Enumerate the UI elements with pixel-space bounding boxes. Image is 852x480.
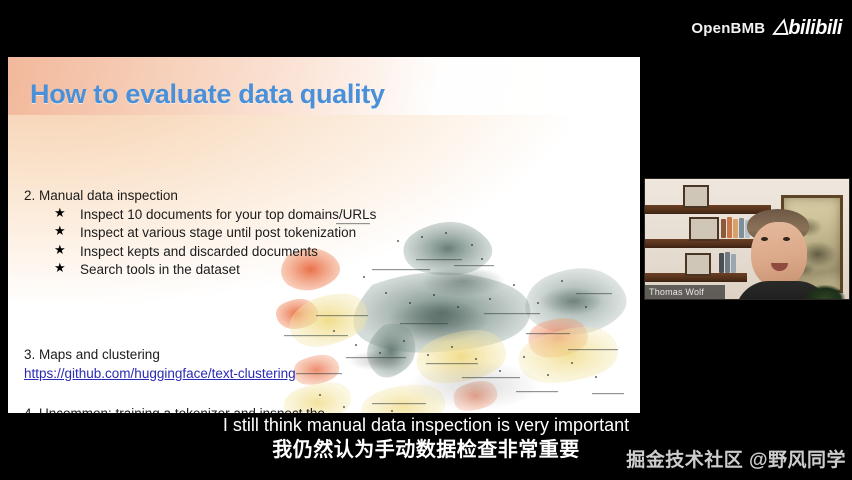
bullet-text: Search tools in the dataset [80, 262, 240, 277]
bullet-item: ★ Inspect 10 documents for your top doma… [54, 206, 389, 223]
bullet-item: ★ Inspect kepts and discarded documents [54, 243, 389, 260]
channel-branding: OpenBMB △bilibili [691, 18, 842, 38]
section-2-bullet-list: ★ Inspect 10 documents for your top doma… [24, 206, 389, 278]
slide-title: How to evaluate data quality [30, 79, 385, 110]
subtitle-english: I still think manual data inspection is … [223, 414, 629, 437]
picture-frame-icon [685, 253, 711, 276]
star-bullet-icon: ★ [54, 260, 66, 277]
bullet-item: ★ Search tools in the dataset [54, 261, 389, 278]
eye [783, 237, 790, 241]
section-3-heading: 3. Maps and clustering [24, 346, 404, 364]
video-player-frame: OpenBMB △bilibili [0, 0, 852, 480]
section-2-heading: 2. Manual data inspection [24, 187, 389, 204]
slide-section-3: 3. Maps and clustering https://github.co… [24, 346, 404, 383]
bilibili-logo-text: bilibili [788, 17, 842, 39]
speaker-webcam-tile[interactable]: Thomas Wolf [644, 178, 850, 300]
subtitle-overlay: I still think manual data inspection is … [0, 414, 852, 474]
watermark-text: 掘金技术社区 @野风同学 [626, 445, 846, 472]
plant [805, 265, 845, 299]
book-icon [719, 253, 724, 273]
star-bullet-icon: ★ [54, 205, 66, 222]
bullet-item: ★ Inspect at various stage until post to… [54, 224, 389, 241]
speaker-name-label: Thomas Wolf [645, 285, 725, 299]
book-icon [725, 252, 730, 273]
bilibili-logo: △bilibili [773, 18, 842, 38]
slide-section-2: 2. Manual data inspection ★ Inspect 10 d… [24, 187, 389, 279]
book-icon [721, 219, 726, 238]
picture-frame-icon [683, 185, 709, 208]
channel-name: OpenBMB [691, 20, 765, 37]
presentation-slide: How to evaluate data quality 2. Manual d… [8, 57, 640, 413]
subtitle-chinese: 我仍然认为手动数据检查非常重要 [272, 438, 580, 463]
star-bullet-icon: ★ [54, 242, 66, 259]
bullet-text: Inspect kepts and discarded documents [80, 244, 318, 259]
bullet-text: Inspect at various stage until post toke… [80, 225, 356, 240]
slide-section-4: 4. Uncommon: training a tokenizer and in… [24, 405, 399, 413]
face [751, 222, 807, 288]
text-clustering-link[interactable]: https://github.com/huggingface/text-clus… [24, 365, 296, 383]
eye [761, 237, 768, 241]
watermark: 掘金技术社区 @野风同学 [626, 445, 846, 472]
picture-frame-icon [689, 217, 719, 241]
star-bullet-icon: ★ [54, 223, 66, 240]
bullet-text: Inspect 10 documents for your top domain… [80, 207, 376, 222]
